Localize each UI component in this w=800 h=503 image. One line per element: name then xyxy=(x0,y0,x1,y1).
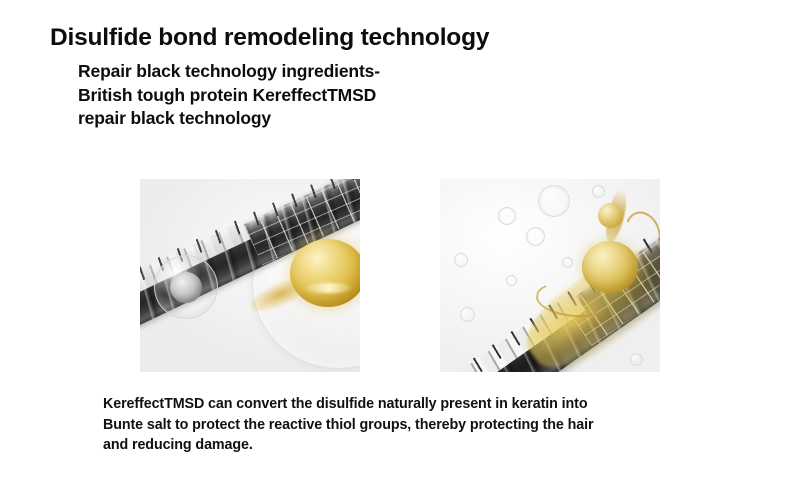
water-droplet xyxy=(630,353,643,366)
water-droplet xyxy=(562,257,573,268)
water-droplet xyxy=(538,185,570,217)
body-line-3: and reducing damage. xyxy=(103,435,703,456)
subtitle-line-3: repair black technology xyxy=(78,107,380,131)
water-droplet xyxy=(498,207,516,225)
body-line-1: KereffectTMSD can convert the disulfide … xyxy=(103,394,703,415)
body-line-2: Bunte salt to protect the reactive thiol… xyxy=(103,415,703,436)
figure-right-oil-splash xyxy=(440,179,660,372)
page-title: Disulfide bond remodeling technology xyxy=(50,24,489,52)
body-paragraph: KereffectTMSD can convert the disulfide … xyxy=(103,394,703,456)
water-droplet xyxy=(454,253,468,267)
golden-oil-droplet xyxy=(290,239,360,307)
subtitle-line-2: British tough protein KereffectTMSD xyxy=(78,84,380,108)
subtitle-block: Repair black technology ingredients- Bri… xyxy=(78,60,380,131)
water-droplet xyxy=(592,185,605,198)
water-droplet xyxy=(526,227,545,246)
figure-left-hair-bubble xyxy=(140,179,360,372)
figure-row xyxy=(100,163,700,356)
water-droplet xyxy=(460,307,475,322)
subtitle-line-1: Repair black technology ingredients- xyxy=(78,60,380,84)
product-infographic-page: Disulfide bond remodeling technology Rep… xyxy=(0,0,800,503)
small-bubble-shape xyxy=(154,255,218,319)
oil-droplet-main xyxy=(582,241,638,293)
water-droplet xyxy=(506,275,517,286)
oil-droplet-small xyxy=(598,203,623,228)
